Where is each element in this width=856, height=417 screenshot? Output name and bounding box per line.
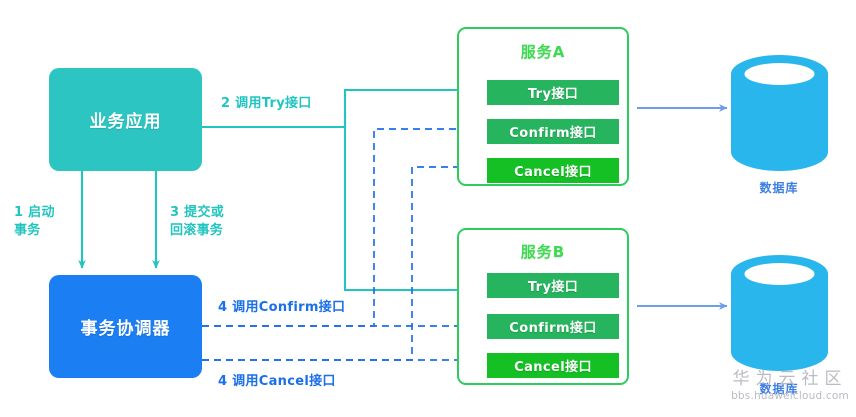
- service-b-confirm-interface[interactable]: Confirm接口: [487, 314, 619, 339]
- edge-call-confirm-service-a: [202, 129, 478, 326]
- edge-label-call-confirm: 4 调用Confirm接口: [218, 299, 345, 317]
- watermark-text: 华为云社区: [727, 370, 853, 389]
- service-b-cancel-interface[interactable]: Cancel接口: [487, 353, 619, 378]
- node-service-a[interactable]: 服务A Try接口 Confirm接口 Cancel接口: [457, 27, 629, 186]
- service-a-title: 服务A: [459, 41, 627, 62]
- service-a-try-interface[interactable]: Try接口: [487, 80, 619, 105]
- edge-label-commit-or-rollback: 3 提交或 回滚事务: [170, 204, 224, 239]
- service-a-cancel-interface[interactable]: Cancel接口: [487, 158, 619, 183]
- watermark-url: bbs.huaweicloud.com: [727, 390, 853, 402]
- edge-label-start-transaction: 1 启动 事务: [14, 204, 55, 239]
- edge-label-call-try: 2 调用Try接口: [221, 95, 312, 113]
- database-b-icon: [731, 255, 828, 371]
- node-transaction-coordinator-label: 事务协调器: [81, 314, 171, 339]
- node-business-app-label: 业务应用: [90, 107, 162, 132]
- node-business-app[interactable]: 业务应用: [49, 68, 202, 171]
- node-service-b[interactable]: 服务B Try接口 Confirm接口 Cancel接口: [457, 228, 629, 385]
- database-a-icon: [731, 55, 828, 171]
- service-a-confirm-interface[interactable]: Confirm接口: [487, 119, 619, 144]
- diagram-canvas: 业务应用 事务协调器 服务A Try接口 Confirm接口 Cancel接口 …: [0, 0, 856, 417]
- service-b-try-interface[interactable]: Try接口: [487, 273, 619, 298]
- node-transaction-coordinator[interactable]: 事务协调器: [49, 275, 202, 378]
- edge-call-cancel-service-a: [202, 167, 478, 360]
- database-a-label: 数据库: [729, 179, 829, 196]
- edge-label-call-cancel: 4 调用Cancel接口: [218, 373, 336, 391]
- watermark: 华为云社区 bbs.huaweicloud.com: [727, 370, 853, 402]
- service-b-title: 服务B: [459, 241, 627, 262]
